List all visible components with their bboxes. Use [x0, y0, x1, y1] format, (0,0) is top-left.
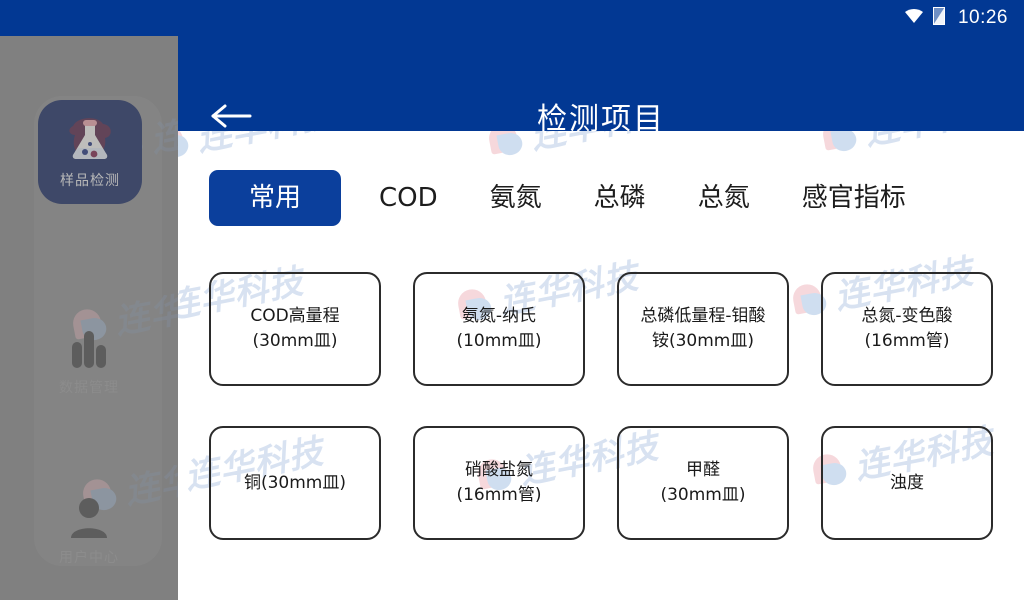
bar-chart-icon [65, 326, 113, 370]
detection-card-label: 铜(30mm皿) [240, 471, 350, 496]
tab-ganguan-zhibiao[interactable]: 感官指标 [776, 170, 932, 226]
flask-icon [63, 115, 117, 165]
detection-card[interactable]: 氨氮-纳氏 (10mm皿) [413, 272, 585, 386]
detection-card[interactable]: 总氮-变色酸 (16mm管) [821, 272, 993, 386]
brand-logo-icon [178, 456, 183, 503]
detection-card-label: 总氮-变色酸 (16mm管) [857, 304, 956, 354]
main-content: 连华科技 连华科技 连华科技 连华科技 连华科技 连华科技 [178, 131, 1024, 600]
person-icon [65, 496, 113, 540]
tab-zonglin[interactable]: 总磷 [568, 170, 672, 226]
detection-card[interactable]: 总磷低量程-钼酸 铵(30mm皿) [617, 272, 789, 386]
status-time: 10:26 [958, 7, 1008, 29]
tab-changyong[interactable]: 常用 [209, 170, 341, 226]
app-root: 10:26 检测项目 连华科技 连华科技 连华科技 [0, 0, 1024, 600]
detection-item-grid: COD高量程 (30mm皿) 氨氮-纳氏 (10mm皿) 总磷低量程-钼酸 铵(… [209, 272, 997, 540]
sidebar-item-sample-detection[interactable]: 样品检测 [38, 100, 142, 204]
category-tabs: 常用 COD 氨氮 总磷 总氮 感官指标 [209, 170, 932, 226]
tab-anbdan[interactable]: 氨氮 [464, 170, 568, 226]
status-bar: 10:26 [0, 0, 1024, 36]
detection-card-label: COD高量程 (30mm皿) [246, 304, 343, 354]
detection-card-label: 总磷低量程-钼酸 铵(30mm皿) [636, 304, 769, 354]
detection-card-label: 浊度 [886, 471, 928, 496]
detection-card-label: 甲醛 (30mm皿) [656, 458, 749, 508]
wifi-icon [904, 8, 924, 28]
sidebar-item-data-management[interactable]: 数据管理 [14, 326, 164, 397]
detection-card-label: 硝酸盐氮 (16mm管) [452, 458, 545, 508]
detection-card[interactable]: 硝酸盐氮 (16mm管) [413, 426, 585, 540]
tab-zongdan[interactable]: 总氮 [672, 170, 776, 226]
tab-cod[interactable]: COD [353, 170, 464, 226]
sidebar-item-label: 样品检测 [60, 170, 120, 190]
sidebar-item-label: 数据管理 [59, 377, 119, 397]
status-icon-group [904, 7, 945, 29]
detection-card[interactable]: 铜(30mm皿) [209, 426, 381, 540]
detection-card[interactable]: 浊度 [821, 426, 993, 540]
sidebar-drawer: 连华科技 连华科技 连华科技 [0, 36, 178, 600]
sidebar-item-label: 用户中心 [59, 547, 119, 567]
detection-card[interactable]: 甲醛 (30mm皿) [617, 426, 789, 540]
sidebar-item-user-center[interactable]: 用户中心 [14, 496, 164, 567]
battery-icon [933, 7, 945, 29]
detection-card[interactable]: COD高量程 (30mm皿) [209, 272, 381, 386]
detection-card-label: 氨氮-纳氏 (10mm皿) [452, 304, 545, 354]
